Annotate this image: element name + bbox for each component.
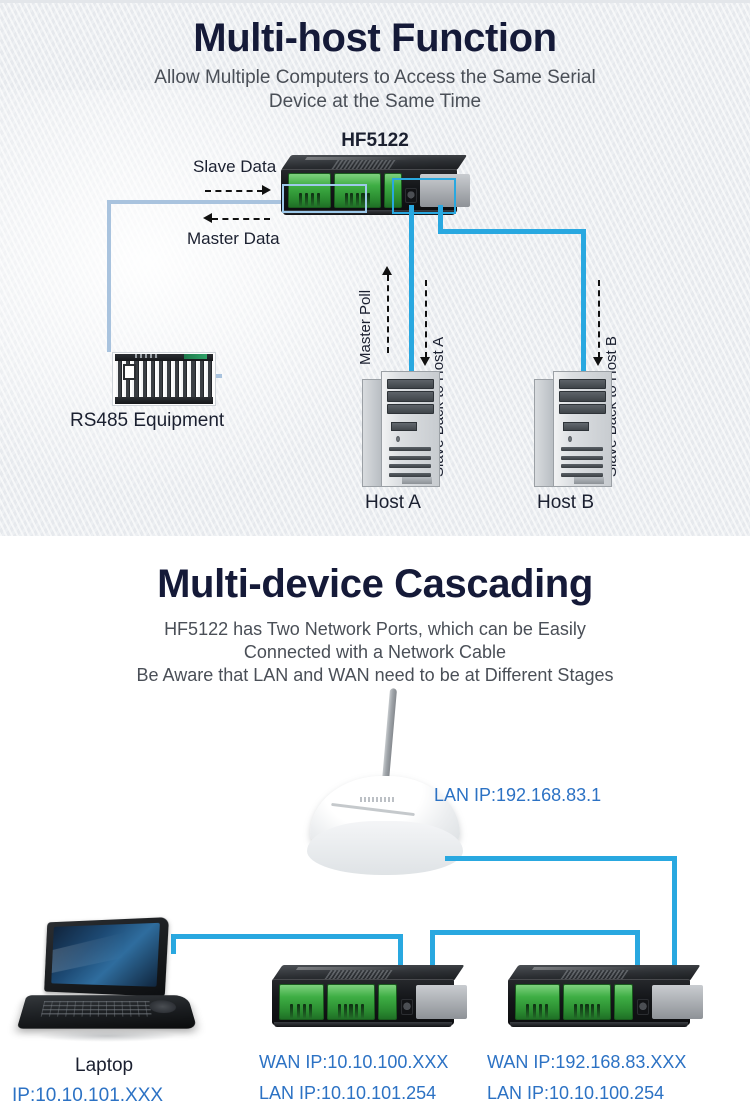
tower-side-panel	[362, 379, 382, 487]
slaveB-arrow-line	[598, 280, 600, 358]
cable-rs485-horizontal	[107, 200, 285, 204]
hf5122-device-label: HF5122	[0, 130, 750, 152]
plc-indicator-dots	[135, 354, 157, 358]
tower-side-panel	[534, 379, 554, 487]
plc-green-terminal	[184, 354, 206, 359]
slaveA-arrow-head	[420, 357, 430, 366]
terminal-block-2[interactable]	[563, 984, 611, 1020]
terminal-block-1[interactable]	[515, 984, 559, 1020]
laptop-keyboard[interactable]	[41, 1001, 152, 1017]
power-jack[interactable]	[637, 999, 649, 1014]
section2-subtitle-line2: Connected with a Network Cable	[244, 642, 506, 662]
laptop-touchpad[interactable]	[148, 1000, 177, 1013]
device-base	[274, 1022, 452, 1027]
cable-hostA-vertical	[409, 205, 414, 375]
cable-rs485-vertical	[107, 200, 111, 352]
section1-subtitle: Allow Multiple Computers to Access the S…	[0, 66, 750, 115]
plc-cpu-module	[123, 364, 136, 380]
laptop-keyboard-deck	[17, 995, 197, 1028]
plc-bottom-rail	[115, 397, 213, 404]
laptop-ip-label: IP:10.10.101.XXX	[12, 1085, 163, 1107]
tower-vents	[389, 447, 431, 472]
device-right-lan-label: LAN IP:10.10.100.254	[487, 1083, 664, 1104]
host-b-label: Host B	[537, 492, 594, 514]
drive-bay-1	[559, 379, 606, 389]
laptop[interactable]	[22, 920, 192, 1040]
power-button[interactable]	[396, 436, 400, 442]
section2-subtitle-line3: Be Aware that LAN and WAN need to be at …	[137, 665, 614, 685]
highlight-network-ports	[392, 178, 456, 214]
terminal-block-2[interactable]	[327, 984, 375, 1020]
tower-front-panel	[553, 371, 612, 487]
tower-display-panel	[391, 422, 417, 431]
router-logo	[360, 797, 396, 803]
master-poll-arrow-line	[387, 275, 389, 353]
slave-data-arrow-line	[205, 190, 263, 192]
power-button[interactable]	[568, 436, 572, 442]
router-lan-ip-label: LAN IP:192.168.83.1	[434, 785, 601, 806]
terminal-block-3[interactable]	[378, 984, 397, 1020]
host-b-tower[interactable]	[534, 371, 612, 487]
terminal-block-3[interactable]	[614, 984, 633, 1020]
power-jack[interactable]	[401, 999, 413, 1014]
device-base	[510, 1022, 688, 1027]
terminal-block-1[interactable]	[279, 984, 323, 1020]
hf5122-device-left[interactable]	[272, 965, 454, 1025]
section2-title: Multi-device Cascading	[0, 562, 750, 607]
device-port-row	[513, 984, 684, 1020]
device-left-lan-label: LAN IP:10.10.101.254	[259, 1083, 436, 1104]
host-a-label: Host A	[365, 492, 421, 514]
device-left-wan-label: WAN IP:10.10.100.XXX	[259, 1052, 448, 1073]
drive-bay-1	[387, 379, 434, 389]
drive-bay-3	[559, 404, 606, 414]
rs485-equipment[interactable]	[112, 352, 216, 406]
router-crease	[331, 803, 415, 816]
tower-foot	[402, 477, 432, 484]
section1-title: Multi-host Function	[0, 16, 750, 61]
master-poll-arrow-head	[382, 266, 392, 275]
router-base-wing	[307, 821, 463, 875]
tower-foot	[574, 477, 604, 484]
slave-data-label: Slave Data	[193, 157, 276, 177]
tower-display-panel	[563, 422, 589, 431]
slaveA-arrow-line	[425, 280, 427, 358]
master-data-arrow-head	[203, 213, 212, 223]
cable-router-right	[445, 856, 677, 861]
tower-vents	[561, 447, 603, 472]
drive-bay-2	[387, 391, 434, 401]
rj45-port-2[interactable]	[433, 985, 467, 1019]
cable-hostB-horizontal	[438, 229, 586, 234]
master-poll-label: Master Poll	[357, 290, 374, 365]
tower-front-panel	[381, 371, 440, 487]
cable-hostB-vertical	[581, 229, 586, 375]
laptop-lid	[44, 917, 169, 997]
cable-laptop-horizontal	[171, 934, 403, 939]
master-data-label: Master Data	[187, 229, 280, 249]
highlight-serial-ports	[282, 184, 367, 213]
device-port-row	[277, 984, 448, 1020]
drive-bay-3	[387, 404, 434, 414]
rs485-equipment-label: RS485 Equipment	[70, 410, 224, 432]
slaveB-arrow-head	[593, 357, 603, 366]
cable-device1-to-device2	[430, 930, 640, 935]
laptop-shadow	[36, 1030, 179, 1042]
section2-subtitle-line1: HF5122 has Two Network Ports, which can …	[164, 619, 586, 639]
host-a-tower[interactable]	[362, 371, 440, 487]
section2-subtitle: HF5122 has Two Network Ports, which can …	[0, 618, 750, 687]
device-right-wan-label: WAN IP:192.168.83.XXX	[487, 1052, 686, 1073]
laptop-label: Laptop	[75, 1055, 133, 1077]
drive-bay-2	[559, 391, 606, 401]
rj45-port-2[interactable]	[669, 985, 703, 1019]
laptop-screen	[51, 923, 160, 986]
master-data-arrow-line	[212, 218, 270, 220]
slave-data-arrow-head	[262, 185, 271, 195]
top-divider	[0, 0, 750, 3]
hf5122-device-right[interactable]	[508, 965, 690, 1025]
